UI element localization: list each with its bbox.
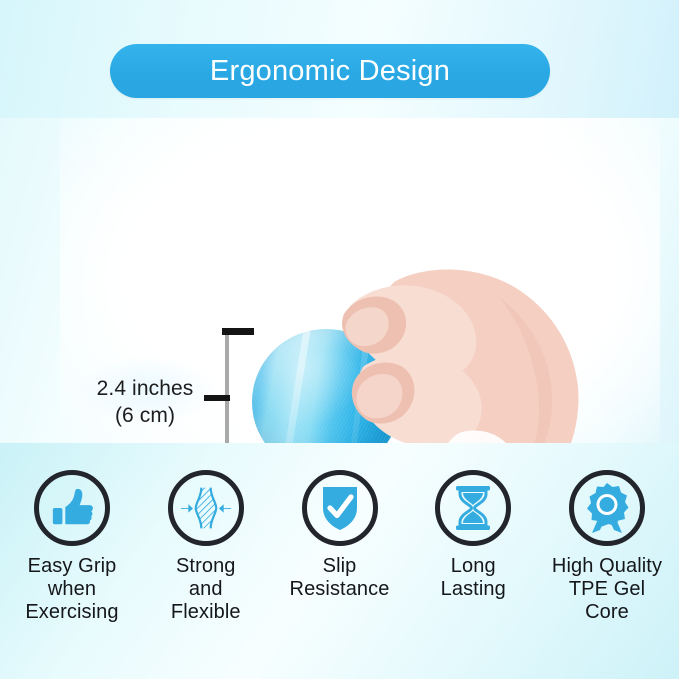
- thumbs-up-icon: [49, 485, 95, 531]
- label-line-1: Slip: [290, 555, 390, 578]
- title-pill: Ergonomic Design: [110, 44, 550, 98]
- dimension-label: 2.4 inches (6 cm): [70, 376, 220, 430]
- shield-check-icon: [319, 484, 361, 532]
- compression-arrows-icon: [180, 484, 232, 532]
- label-line-1: Strong: [171, 555, 241, 578]
- feature-label: High Quality TPE Gel Core: [552, 555, 662, 625]
- bracket-cap-top: [222, 328, 254, 335]
- feature-label: Strong and Flexible: [171, 555, 241, 625]
- label-line-1: High Quality: [552, 555, 662, 578]
- label-line-1: Long: [441, 555, 506, 578]
- feature-long-lasting: Long Lasting: [407, 470, 539, 601]
- label-line-2: Resistance: [290, 578, 390, 601]
- feature-label: Slip Resistance: [290, 555, 390, 601]
- award-ribbon-icon: [584, 483, 630, 533]
- feature-icon-ring: [34, 470, 110, 546]
- feature-strong-flexible: Strong and Flexible: [140, 470, 272, 625]
- feature-tpe-gel-core: High Quality TPE Gel Core: [541, 470, 673, 625]
- dimension-centimeters: (6 cm): [70, 403, 220, 430]
- page-title: Ergonomic Design: [210, 55, 450, 88]
- feature-icon-ring: [569, 470, 645, 546]
- label-line-1: Easy Grip: [25, 555, 118, 578]
- feature-easy-grip: Easy Grip when Exercising: [6, 470, 138, 625]
- features-row: Easy Grip when Exercising: [0, 470, 679, 625]
- hero-band: 2.4 inches (6 cm): [0, 118, 679, 443]
- hourglass-icon: [451, 484, 495, 532]
- label-line-2: TPE Gel: [552, 578, 662, 601]
- feature-label: Long Lasting: [441, 555, 506, 601]
- title-band: Ergonomic Design: [0, 0, 679, 118]
- label-line-3: Flexible: [171, 601, 241, 624]
- feature-icon-ring: [168, 470, 244, 546]
- feature-icon-ring: [435, 470, 511, 546]
- bracket-tick: [204, 395, 230, 401]
- label-line-3: Core: [552, 601, 662, 624]
- feature-slip-resistance: Slip Resistance: [274, 470, 406, 601]
- product-infographic: Ergonomic Design 2.4 inches (6 cm): [0, 0, 679, 679]
- label-line-2: Lasting: [441, 578, 506, 601]
- dimension-inches: 2.4 inches: [70, 376, 220, 403]
- feature-label: Easy Grip when Exercising: [25, 555, 118, 625]
- feature-icon-ring: [302, 470, 378, 546]
- label-line-2: and: [171, 578, 241, 601]
- label-line-2: when: [25, 578, 118, 601]
- label-line-3: Exercising: [25, 601, 118, 624]
